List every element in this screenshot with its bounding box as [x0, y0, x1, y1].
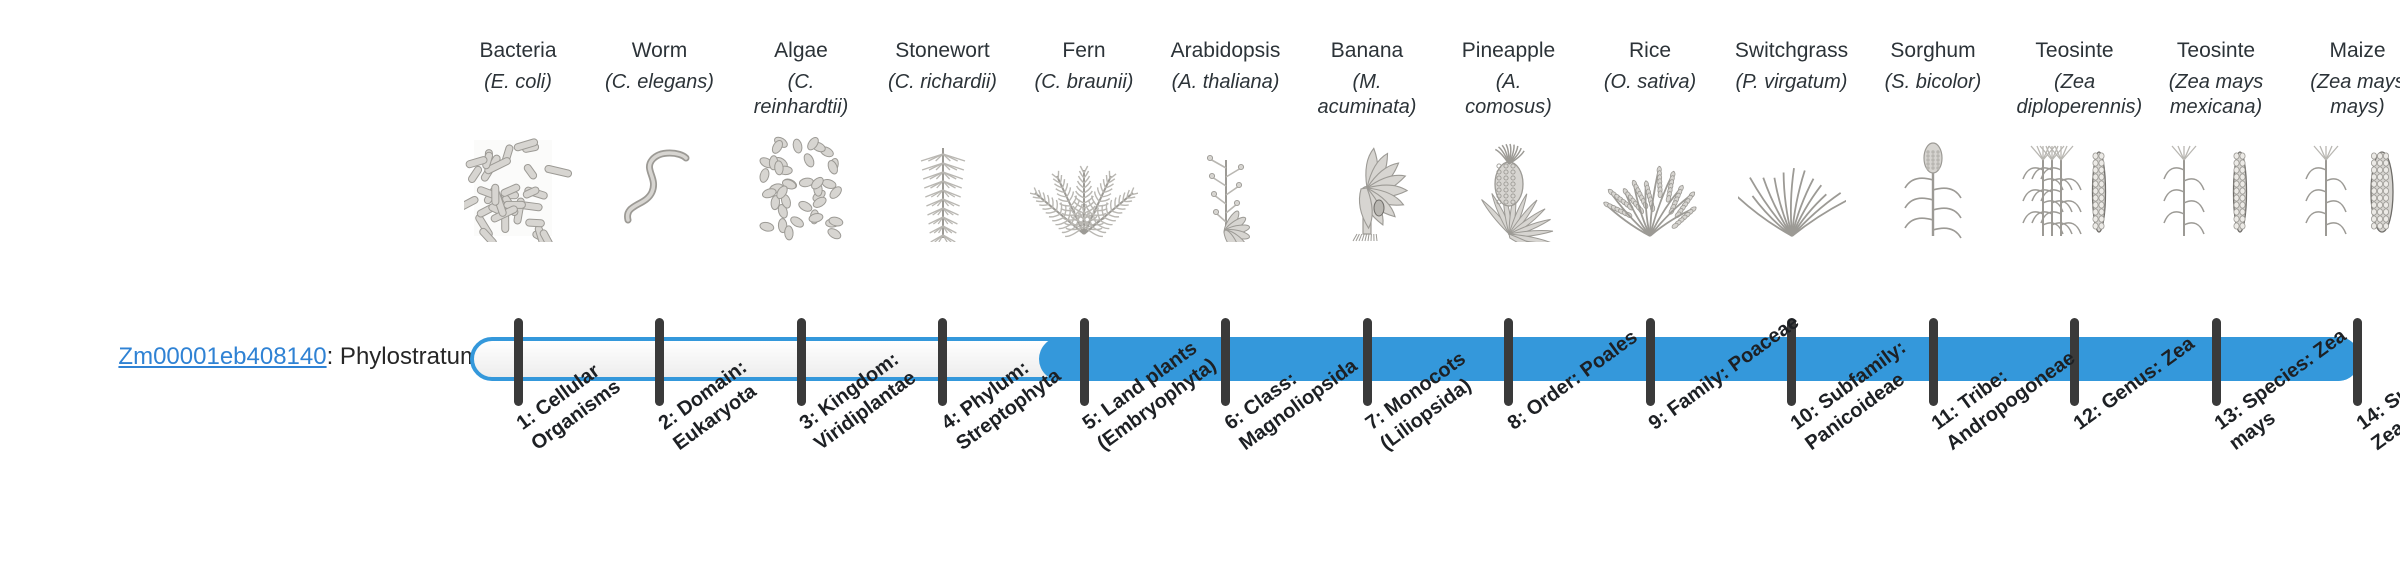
species-column-algae-2: Algae (C. reinhardtii): [743, 38, 859, 242]
species-scientific-name: (P. virgatum): [1734, 70, 1850, 128]
species-common-name: Arabidopsis: [1168, 38, 1284, 66]
species-common-name: Sorghum: [1875, 38, 1991, 66]
species-column-teosinte-11: Teosinte (Zea diploperennis): [2017, 38, 2133, 242]
node-tick-1[interactable]: [514, 318, 523, 406]
species-common-name: Stonewort: [885, 38, 1001, 66]
species-column-teosinte-12: Teosinte (Zea mays mexicana): [2158, 38, 2274, 242]
species-common-name: Maize: [2300, 38, 2400, 66]
species-column-rice-8: Rice (O. sativa): [1592, 38, 1708, 242]
fern-icon: [1026, 132, 1142, 242]
species-common-name: Fern: [1026, 38, 1142, 66]
species-scientific-name: (C. richardii): [885, 70, 1001, 128]
species-scientific-name: (Zea mays mays): [2300, 70, 2400, 128]
species-common-name: Bacteria: [460, 38, 576, 66]
species-scientific-name: (Zea diploperennis): [2017, 70, 2133, 128]
bacteria-icon: [460, 132, 576, 242]
species-column-pineapple-7: Pineapple (A. comosus): [1451, 38, 1567, 242]
species-column-worm-1: Worm (C. elegans): [602, 38, 718, 242]
species-common-name: Banana: [1309, 38, 1425, 66]
algae-icon: [743, 132, 859, 242]
species-common-name: Teosinte: [2158, 38, 2274, 66]
species-common-name: Pineapple: [1451, 38, 1567, 66]
switchgrass-icon: [1734, 132, 1850, 242]
worm-icon: [602, 132, 718, 242]
arabidopsis-icon: [1168, 132, 1284, 242]
species-column-arabidopsis-5: Arabidopsis (A. thaliana): [1168, 38, 1284, 242]
species-column-sorghum-10: Sorghum (S. bicolor): [1875, 38, 1991, 242]
species-column-maize-13: Maize (Zea mays mays): [2300, 38, 2400, 242]
maize-icon: [2300, 132, 2400, 242]
species-scientific-name: (A. thaliana): [1168, 70, 1284, 128]
banana-icon: [1309, 132, 1425, 242]
species-column-banana-6: Banana (M. acuminata): [1309, 38, 1425, 242]
species-column-fern-4: Fern (C. braunii): [1026, 38, 1142, 242]
species-common-name: Switchgrass: [1734, 38, 1850, 66]
species-scientific-name: (E. coli): [460, 70, 576, 128]
species-common-name: Rice: [1592, 38, 1708, 66]
species-scientific-name: (S. bicolor): [1875, 70, 1991, 128]
species-scientific-name: (Zea mays mexicana): [2158, 70, 2274, 128]
pineapple-icon: [1451, 132, 1567, 242]
species-column-switchgrass-9: Switchgrass (P. virgatum): [1734, 38, 1850, 242]
species-scientific-name: (C. reinhardtii): [743, 70, 859, 128]
species-header-row: Bacteria (E. coli) Worm (C. elegans) Alg…: [480, 38, 2380, 308]
species-scientific-name: (C. braunii): [1026, 70, 1142, 128]
species-common-name: Worm: [602, 38, 718, 66]
species-column-bacteria-0: Bacteria (E. coli): [460, 38, 576, 242]
sorghum-icon: [1875, 132, 1991, 242]
taxonomy-index: 8:: [1503, 406, 1530, 434]
rice-icon: [1592, 132, 1708, 242]
species-scientific-name: (C. elegans): [602, 70, 718, 128]
species-scientific-name: (O. sativa): [1592, 70, 1708, 128]
teosinte-mex-icon: [2158, 132, 2274, 242]
species-scientific-name: (M. acuminata): [1309, 70, 1425, 128]
species-scientific-name: (A. comosus): [1451, 70, 1567, 128]
gene-phylostratum-label: Zm00001eb408140: Phylostratum 5: [30, 342, 500, 372]
species-common-name: Teosinte: [2017, 38, 2133, 66]
species-common-name: Algae: [743, 38, 859, 66]
species-column-stonewort-3: Stonewort (C. richardii): [885, 38, 1001, 242]
gene-id-link[interactable]: Zm00001eb408140: [118, 343, 326, 370]
stonewort-icon: [885, 132, 1001, 242]
teosinte-diplo-icon: [2017, 132, 2133, 242]
